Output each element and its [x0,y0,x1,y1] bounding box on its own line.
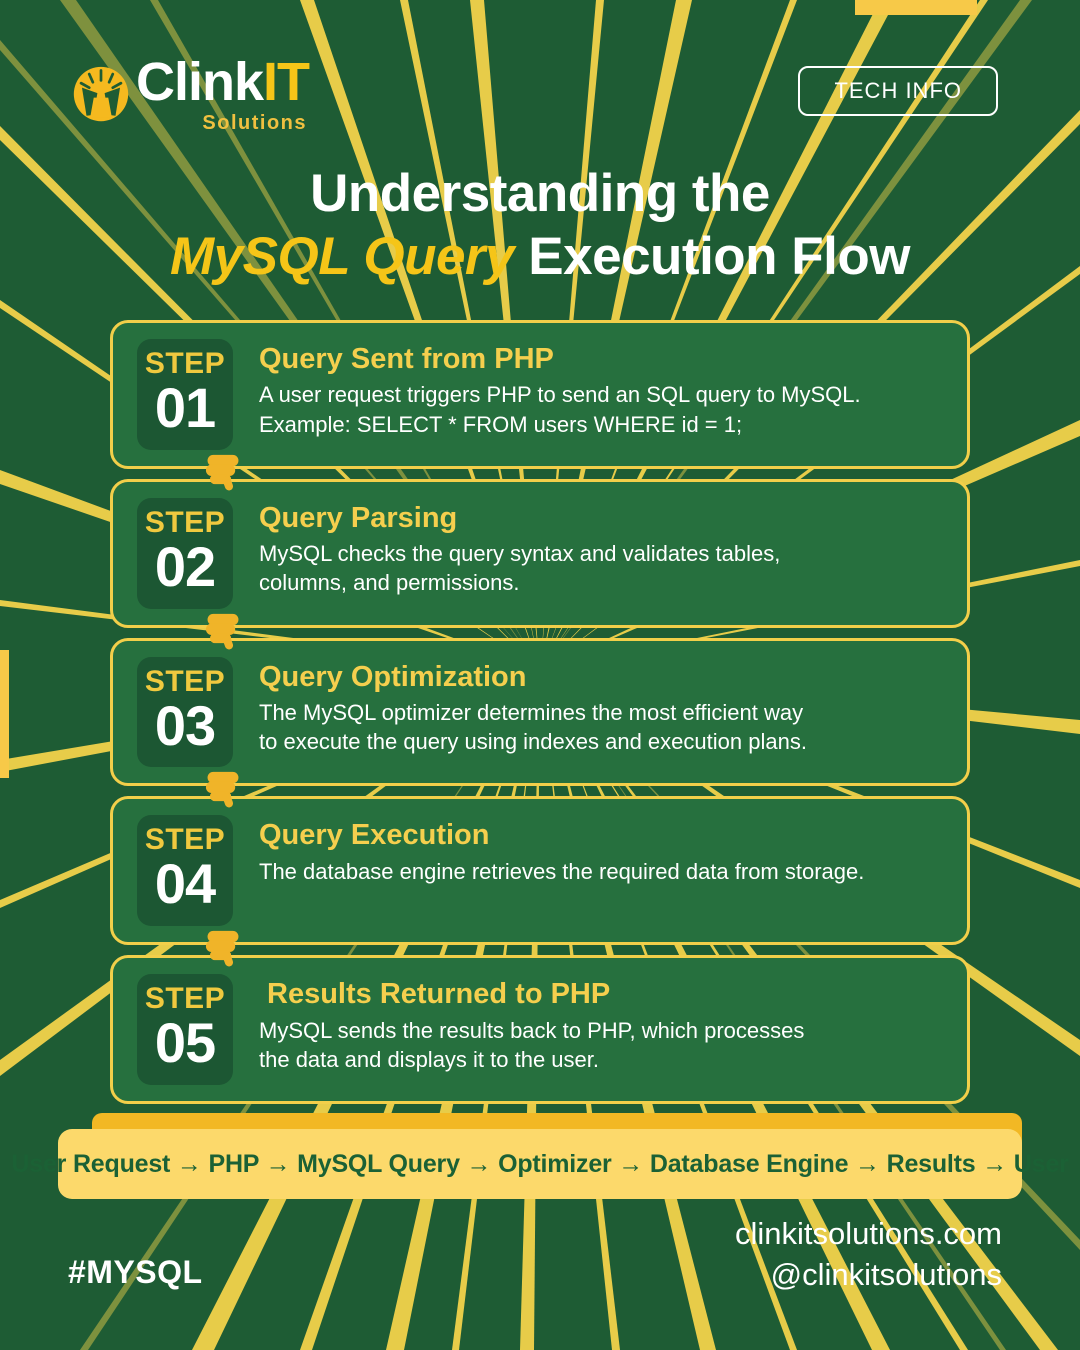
step-content-01: Query Sent from PHP A user request trigg… [259,339,861,439]
step-badge-04: STEP 04 [137,815,233,926]
brand-name-accent: IT [263,52,309,112]
step-badge-number: 02 [137,538,233,597]
step-body-line2: Example: SELECT * FROM users WHERE id = … [259,410,861,439]
hashtag-label: #MYSQL [68,1254,203,1291]
website-url: clinkitsolutions.com [735,1214,1002,1255]
contact-block: clinkitsolutions.com @clinkitsolutions [735,1214,1002,1296]
brand-wordmark: ClinkIT Solutions [136,55,309,133]
step-body-line1: A user request triggers PHP to send an S… [259,380,861,409]
step-card-01: STEP 01 Query Sent from PHP A user reque… [110,320,970,469]
pointing-down-hand-icon [197,609,249,661]
page-title-accent: MySQL Query [170,227,514,286]
brand-name: ClinkIT [136,55,309,109]
step-badge-number: 03 [137,697,233,756]
step-title: Query Sent from PHP [259,343,861,376]
step-badge-label: STEP [137,667,233,697]
pointing-down-hand-icon [197,450,249,502]
step-title: Query Execution [259,819,864,852]
edge-accent-left [0,650,9,778]
step-title: Query Parsing [259,502,780,535]
step-content-04: Query Execution The database engine retr… [259,815,864,886]
step-title: Results Returned to PHP [259,978,804,1011]
step-badge-label: STEP [137,984,233,1014]
step-badge-label: STEP [137,508,233,538]
page-title-line2: MySQL Query Execution Flow [0,226,1080,289]
brand-tagline: Solutions [202,113,307,133]
step-body-line1: The MySQL optimizer determines the most … [259,698,807,727]
pointing-down-hand-icon [197,767,249,819]
social-handle: @clinkitsolutions [735,1255,1002,1296]
step-body-line2: the data and displays it to the user. [259,1045,804,1074]
step-body-line1: MySQL checks the query syntax and valida… [259,539,780,568]
summary-bar-front: User Request → PHP → MySQL Query → Optim… [58,1129,1022,1199]
infographic-poster: ClinkIT Solutions TECH INFO Understandin… [0,0,1080,1350]
step-badge-01: STEP 01 [137,339,233,450]
step-content-02: Query Parsing MySQL checks the query syn… [259,498,780,598]
step-title: Query Optimization [259,661,807,694]
step-body-line2: to execute the query using indexes and e… [259,727,807,756]
header: ClinkIT Solutions TECH INFO [0,0,1080,160]
step-badge-label: STEP [137,349,233,379]
brand-name-primary: Clink [136,52,263,112]
step-badge-03: STEP 03 [137,657,233,768]
step-badge-label: STEP [137,825,233,855]
steps-list: STEP 01 Query Sent from PHP A user reque… [110,320,970,1114]
pointing-down-hand-icon [197,926,249,978]
tech-info-badge: TECH INFO [798,66,998,116]
step-badge-number: 01 [137,379,233,438]
step-body-line2: columns, and permissions. [259,568,780,597]
step-content-05: Results Returned to PHP MySQL sends the … [259,974,804,1074]
step-badge-02: STEP 02 [137,498,233,609]
page-title-line1: Understanding the [0,163,1080,226]
step-body-line1: The database engine retrieves the requir… [259,857,864,886]
clinking-glasses-icon [72,65,130,123]
page-title: Understanding the MySQL Query Execution … [0,163,1080,288]
brand-logo: ClinkIT Solutions [72,55,309,133]
page-title-line2-rest: Execution Flow [528,227,910,286]
step-badge-number: 05 [137,1014,233,1073]
summary-flow-bar: User Request → PHP → MySQL Query → Optim… [58,1113,1022,1201]
summary-flow-text: User Request → PHP → MySQL Query → Optim… [11,1150,1068,1179]
step-body-line1: MySQL sends the results back to PHP, whi… [259,1016,804,1045]
step-content-03: Query Optimization The MySQL optimizer d… [259,657,807,757]
step-badge-number: 04 [137,855,233,914]
step-badge-05: STEP 05 [137,974,233,1085]
